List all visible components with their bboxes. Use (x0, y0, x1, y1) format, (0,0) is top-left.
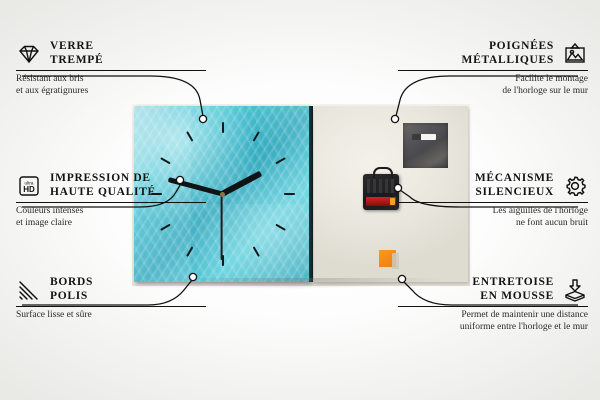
hanging-loop (373, 167, 393, 178)
foam-spacer-pad (379, 250, 396, 267)
feature-title: BORDS POLIS (50, 276, 93, 303)
feature-poignees-metalliques: POIGNÉES MÉTALLIQUES Facilite le montage… (398, 40, 588, 97)
clock-center-pin (220, 192, 225, 197)
ultra-hd-icon: ultra HD (16, 174, 42, 198)
feature-subtitle: Permet de maintenir une distance uniform… (398, 310, 588, 333)
glass-edge (309, 106, 313, 282)
feature-subtitle: Les aiguilles de l'horloge ne font aucun… (398, 206, 588, 229)
feature-rule (398, 202, 588, 203)
battery (366, 197, 396, 206)
feature-title: ENTRETOISE EN MOUSSE (472, 276, 554, 303)
feature-title: VERRE TREMPÉ (50, 40, 103, 67)
feature-title: IMPRESSION DE HAUTE QUALITÉ (50, 172, 156, 199)
feature-title: MÉCANISME SILENCIEUX (475, 172, 554, 199)
feature-header: POIGNÉES MÉTALLIQUES (398, 40, 588, 67)
svg-text:HD: HD (23, 185, 35, 194)
feature-header: ultra HD IMPRESSION DE HAUTE QUALITÉ (16, 172, 206, 199)
feature-verre-trempe: VERRE TREMPÉ Résistant aux bris et aux é… (16, 40, 206, 97)
feature-title: POIGNÉES MÉTALLIQUES (462, 40, 554, 67)
feature-header: ENTRETOISE EN MOUSSE (398, 276, 588, 303)
foam-spacer-arrow-icon (562, 278, 588, 302)
feature-subtitle: Couleurs intenses et image claire (16, 206, 206, 229)
wall-mount-frame-icon (562, 42, 588, 66)
infographic-canvas: VERRE TREMPÉ Résistant aux bris et aux é… (0, 0, 600, 400)
feature-subtitle: Résistant aux bris et aux égratignures (16, 74, 206, 97)
clock-second-hand (221, 194, 223, 260)
quartz-mechanism (363, 174, 399, 210)
feature-rule (16, 202, 206, 203)
feature-header: VERRE TREMPÉ (16, 40, 206, 67)
feature-rule (398, 306, 588, 307)
feature-impression-haute-qualite: ultra HD IMPRESSION DE HAUTE QUALITÉ Cou… (16, 172, 206, 229)
feature-entretoise-en-mousse: ENTRETOISE EN MOUSSE Permet de maintenir… (398, 276, 588, 333)
diamond-icon (16, 42, 42, 66)
feature-subtitle: Surface lisse et sûre (16, 310, 206, 322)
feature-bords-polis: BORDS POLIS Surface lisse et sûre (16, 276, 206, 322)
mechanism-label (367, 179, 395, 193)
feature-rule (16, 70, 206, 71)
gear-icon (562, 174, 588, 198)
polished-edges-icon (16, 278, 42, 302)
battery-terminal (390, 198, 395, 205)
feature-rule (16, 306, 206, 307)
feature-rule (398, 70, 588, 71)
hanger-slot (412, 134, 436, 140)
foam-spacer-shadow (392, 253, 399, 269)
feature-mecanisme-silencieux: MÉCANISME SILENCIEUX Les aiguilles de l'… (398, 172, 588, 229)
feature-subtitle: Facilite le montage de l'horloge sur le … (398, 74, 588, 97)
feature-header: MÉCANISME SILENCIEUX (398, 172, 588, 199)
feature-header: BORDS POLIS (16, 276, 206, 303)
metal-hanger-plate (403, 123, 448, 168)
